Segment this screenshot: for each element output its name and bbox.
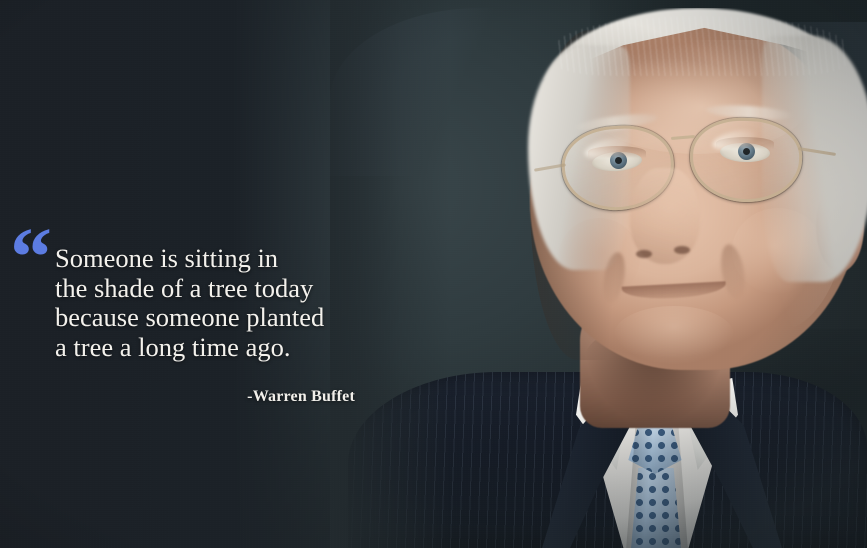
- quote-attribution: -Warren Buffet: [55, 388, 355, 406]
- quote-image-canvas: “ Someone is sitting in the shade of a t…: [0, 0, 867, 548]
- open-quote-icon: “: [10, 216, 50, 300]
- quote-text: Someone is sitting in the shade of a tre…: [55, 244, 395, 362]
- quote-block: “ Someone is sitting in the shade of a t…: [0, 0, 400, 548]
